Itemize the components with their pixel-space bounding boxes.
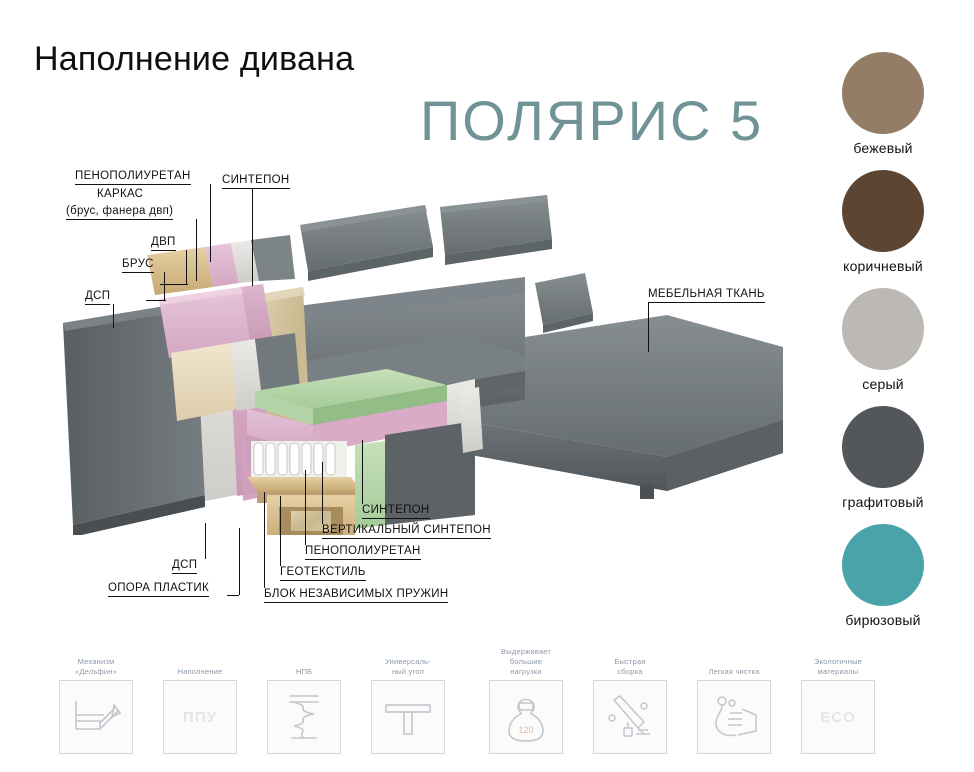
feature-caption-load: Выдерживаетбольшиенагрузки bbox=[486, 645, 566, 680]
swatch-label-grafitovyy: графитовый bbox=[808, 494, 958, 510]
swatch-dot-grafitovyy[interactable] bbox=[842, 406, 924, 488]
feature-caption-dolphin: Механизм«Дельфин» bbox=[56, 645, 136, 680]
callout-karkas-sub: (брус, фанера двп) bbox=[66, 205, 173, 220]
leader-penopoliuretan-bot bbox=[305, 470, 306, 545]
swatch-biryuzovyy[interactable]: бирюзовый bbox=[808, 524, 958, 628]
callout-sintepon-top: СИНТЕПОН bbox=[222, 174, 290, 189]
feature-easy-cleaning[interactable]: Легкая чистка bbox=[694, 645, 774, 754]
feature-heavy-load[interactable]: Выдерживаетбольшиенагрузки 120 bbox=[486, 645, 566, 754]
feature-eco-materials[interactable]: Экологичныематериалы ECO bbox=[798, 645, 878, 754]
feature-box-dolphin[interactable] bbox=[59, 680, 133, 754]
swatch-label-korichnevyy: коричневый bbox=[808, 258, 958, 274]
poster-canvas: Наполнение дивана ПОЛЯРИС 5 bbox=[0, 0, 974, 772]
callout-penopoliuretan-bot: ПЕНОПОЛИУРЕТАН bbox=[305, 545, 421, 560]
leader-vertikalny-sintepon bbox=[322, 462, 323, 524]
leader-brus-h bbox=[146, 300, 166, 301]
leader-karkas bbox=[196, 219, 197, 281]
swatch-dot-korichnevyy[interactable] bbox=[842, 170, 924, 252]
callout-blok-pruzhin: БЛОК НЕЗАВИСИМЫХ ПРУЖИН bbox=[264, 588, 448, 603]
callout-geotekstil: ГЕОТЕКСТИЛЬ bbox=[280, 566, 366, 581]
feature-fast-assembly[interactable]: Быстраясборка bbox=[590, 645, 670, 754]
callout-dsp-bottom: ДСП bbox=[172, 559, 197, 574]
feature-caption-assembly: Быстраясборка bbox=[590, 645, 670, 680]
feature-box-cleaning[interactable] bbox=[697, 680, 771, 754]
feature-box-filling[interactable]: ППУ bbox=[163, 680, 237, 754]
swatch-label-bezhevyy: бежевый bbox=[808, 140, 958, 156]
feature-box-assembly[interactable] bbox=[593, 680, 667, 754]
feature-box-eco[interactable]: ECO bbox=[801, 680, 875, 754]
swatch-dot-biryuzovyy[interactable] bbox=[842, 524, 924, 606]
feature-caption-filling: Наполнение bbox=[160, 645, 240, 680]
callout-dvp: ДВП bbox=[151, 236, 176, 251]
callout-karkas: КАРКАС bbox=[97, 188, 143, 202]
swatch-bezhevyy[interactable]: бежевый bbox=[808, 52, 958, 156]
feature-group-left: Механизм«Дельфин» Нап bbox=[56, 645, 448, 754]
feature-box-npb[interactable] bbox=[267, 680, 341, 754]
feature-caption-corner: Универсаль-ный угол bbox=[368, 645, 448, 680]
swatch-dot-seryy[interactable] bbox=[842, 288, 924, 370]
feature-universal-corner[interactable]: Универсаль-ный угол bbox=[368, 645, 448, 754]
callout-mebelnaya-tkan: МЕБЕЛЬНАЯ ТКАНЬ bbox=[648, 288, 765, 303]
leader-sintepon-bottom bbox=[362, 440, 363, 504]
page-title: Наполнение дивана bbox=[34, 40, 354, 79]
callout-penopoliuretan-top: ПЕНОПОЛИУРЕТАН bbox=[75, 170, 191, 185]
swatch-grafitovyy[interactable]: графитовый bbox=[808, 406, 958, 510]
leader-opora-h bbox=[227, 595, 239, 596]
feature-filling-ppu[interactable]: Наполнение ППУ bbox=[160, 645, 240, 754]
leader-penopoliuretan-top bbox=[210, 184, 211, 262]
swatch-seryy[interactable]: серый bbox=[808, 288, 958, 392]
leader-mebelnaya-tkan bbox=[648, 302, 649, 352]
callout-sintepon-bottom: СИНТЕПОН bbox=[362, 504, 430, 519]
callout-brus: БРУС bbox=[122, 258, 154, 273]
leader-brus-v bbox=[164, 272, 165, 300]
callout-vertikalny-sintepon: ВЕРТИКАЛЬНЫЙ СИНТЕПОН bbox=[322, 524, 491, 539]
universal-corner-icon bbox=[382, 695, 434, 739]
leader-dvp-v bbox=[186, 250, 187, 284]
fast-assembly-icon bbox=[604, 692, 656, 742]
leader-blok-pruzhin bbox=[264, 492, 265, 588]
feature-caption-cleaning: Легкая чистка bbox=[694, 645, 774, 680]
color-swatch-list: бежевый коричневый серый графитовый бирю… bbox=[808, 52, 958, 642]
load-value: 120 bbox=[518, 725, 533, 735]
leader-sintepon-top bbox=[252, 188, 253, 286]
leader-dsp-top bbox=[113, 304, 114, 328]
swatch-dot-bezhevyy[interactable] bbox=[842, 52, 924, 134]
feature-box-load[interactable]: 120 bbox=[489, 680, 563, 754]
spring-block-icon bbox=[284, 692, 324, 742]
leader-geotekstil bbox=[280, 496, 281, 566]
feature-icon-strip: Механизм«Дельфин» Нап bbox=[0, 645, 974, 760]
model-name: ПОЛЯРИС 5 bbox=[420, 88, 763, 153]
filling-ppu-icon: ППУ bbox=[183, 709, 217, 726]
callout-dsp-top: ДСП bbox=[85, 290, 110, 305]
leader-dsp-bottom bbox=[205, 523, 206, 559]
feature-box-corner[interactable] bbox=[371, 680, 445, 754]
callout-opora-plastik: ОПОРА ПЛАСТИК bbox=[108, 582, 209, 597]
feature-group-right: Выдерживаетбольшиенагрузки 120 Быстраясб… bbox=[486, 645, 878, 754]
feature-dolphin-mechanism[interactable]: Механизм«Дельфин» bbox=[56, 645, 136, 754]
feature-caption-npb: НПБ bbox=[264, 645, 344, 680]
feature-spring-block[interactable]: НПБ bbox=[264, 645, 344, 754]
feature-caption-eco: Экологичныематериалы bbox=[798, 645, 878, 680]
eco-materials-icon: ECO bbox=[820, 709, 856, 726]
swatch-label-seryy: серый bbox=[808, 376, 958, 392]
leader-opora-v bbox=[239, 528, 240, 595]
swatch-korichnevyy[interactable]: коричневый bbox=[808, 170, 958, 274]
swatch-label-biryuzovyy: бирюзовый bbox=[808, 612, 958, 628]
kettlebell-load-icon: 120 bbox=[505, 691, 547, 743]
easy-cleaning-icon bbox=[708, 693, 760, 741]
dolphin-mechanism-icon bbox=[70, 695, 122, 739]
